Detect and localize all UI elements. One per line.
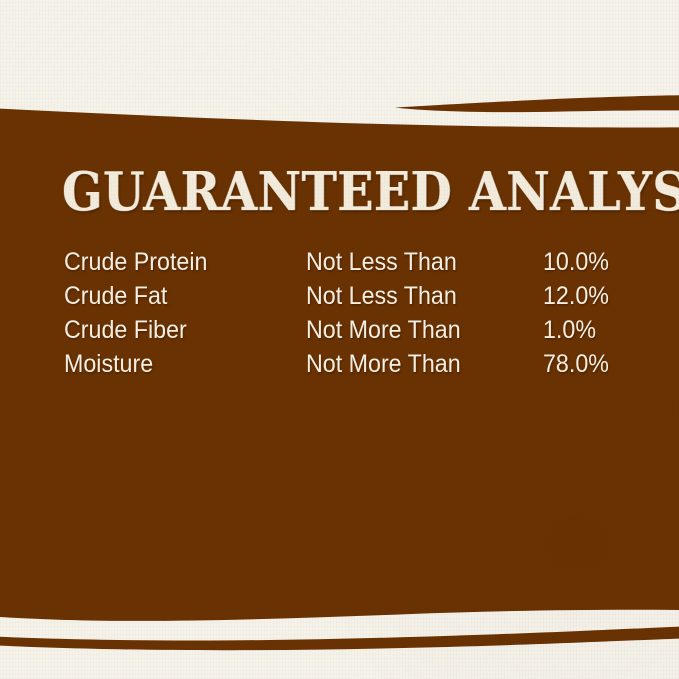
bottom-accent-sliver [0,627,679,651]
top-accent-wedge [395,95,679,112]
nutrient-value: 10.0% [543,247,609,277]
nutrient-qualifier: Not Less Than [306,281,526,311]
nutrient-value: 78.0% [543,349,609,379]
table-row: Crude Protein Not Less Than 10.0% [64,247,634,281]
table-row: Crude Fat Not Less Than 12.0% [64,281,634,315]
nutrient-qualifier: Not More Than [306,315,526,345]
table-row: Crude Fiber Not More Than 1.0% [64,315,634,349]
nutrient-qualifier: Not More Than [306,349,526,379]
nutrient-name: Crude Fat [64,281,289,311]
nutrient-value: 1.0% [543,315,596,345]
nutrient-name: Crude Protein [64,247,289,277]
nutrient-name: Moisture [64,349,289,379]
nutrient-qualifier: Not Less Than [306,247,526,277]
nutrient-name: Crude Fiber [64,315,289,345]
table-row: Moisture Not More Than 78.0% [64,349,634,383]
guaranteed-analysis-label: GUARANTEED ANALYSIS Crude Protein Not Le… [0,0,679,679]
page-title: GUARANTEED ANALYSIS [62,163,563,221]
nutrient-value: 12.0% [543,281,609,311]
analysis-table: Crude Protein Not Less Than 10.0% Crude … [64,247,634,383]
